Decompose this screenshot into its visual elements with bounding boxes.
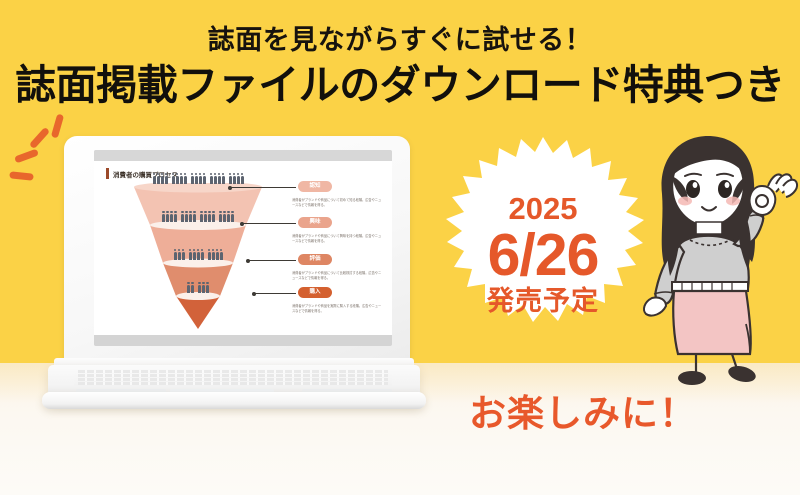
screen-toolbar-top <box>94 150 392 161</box>
slide-title-accent-bar <box>106 168 109 179</box>
funnel-stage-desc-2: 消費者がブランドや商品について興味を持つ段階。広告やニュースなどで情報を得る。 <box>292 234 384 244</box>
badge-note: 発売予定 <box>487 288 599 315</box>
sparkle-dash <box>9 171 34 180</box>
tagline-text: お楽しみに！ <box>448 383 718 437</box>
funnel-stage-desc-3: 消費者がブランドや商品について比較検討する段階。広告やニュースなどで情報を得る。 <box>292 271 384 281</box>
headline-line-1: 誌面を見ながらすぐに試せる！ <box>0 24 800 56</box>
funnel-stage-desc-1: 消費者がブランドや商品について初めて知る段階。広告やニュースなどで情報を得る。 <box>292 198 384 208</box>
people-row-stage-2 <box>128 214 268 222</box>
sparkle-icon <box>14 112 94 192</box>
headline-line-2: 誌面掲載ファイルのダウンロード特典つき <box>0 62 800 110</box>
laptop-lid: 消費者の購買プロセス <box>64 136 410 362</box>
people-row-stage-4 <box>128 285 268 293</box>
woman-ok-sign-icon <box>628 128 800 390</box>
funnel-stage-label-4: 購入 <box>298 287 332 298</box>
laptop-device: 消費者の購買プロセス <box>48 136 420 386</box>
sparkle-dash <box>51 114 64 139</box>
funnel-stage-desc-4: 消費者がブランドや商品を実際に購入する段階。広告やニュースなどで情報を得る。 <box>292 304 384 314</box>
badge-text-block: 2025 6/26 発売予定 <box>427 135 659 367</box>
character-illustration <box>628 128 800 390</box>
screen-toolbar-bottom <box>94 335 392 346</box>
headline-block: 誌面を見ながらすぐに試せる！ 誌面掲載ファイルのダウンロード特典つき <box>0 24 800 110</box>
leader-line-4 <box>254 293 296 294</box>
funnel-stage-label-2: 興味 <box>298 217 332 228</box>
funnel-stage-label-3: 評価 <box>298 254 332 265</box>
poster-canvas: 誌面を見ながらすぐに試せる！ 誌面掲載ファイルのダウンロード特典つき 消費者の購… <box>0 0 800 495</box>
funnel-stage-label-1: 認知 <box>298 181 332 192</box>
sparkle-dash <box>29 127 50 150</box>
release-date-badge: 2025 6/26 発売予定 <box>427 135 659 367</box>
badge-date: 6/26 <box>488 225 599 285</box>
laptop-screen: 消費者の購買プロセス <box>94 150 392 346</box>
people-row-stage-3 <box>128 252 268 260</box>
laptop-keyboard <box>74 368 392 388</box>
leader-line-3 <box>248 260 296 261</box>
badge-year: 2025 <box>509 193 578 224</box>
slide-canvas: 消費者の購買プロセス <box>94 161 392 335</box>
sparkle-dash <box>14 149 39 164</box>
funnel-diagram <box>128 183 268 331</box>
people-row-stage-1 <box>128 176 268 184</box>
leader-line-1 <box>230 187 296 188</box>
leader-line-2 <box>242 223 296 224</box>
laptop-front-edge <box>42 392 426 409</box>
